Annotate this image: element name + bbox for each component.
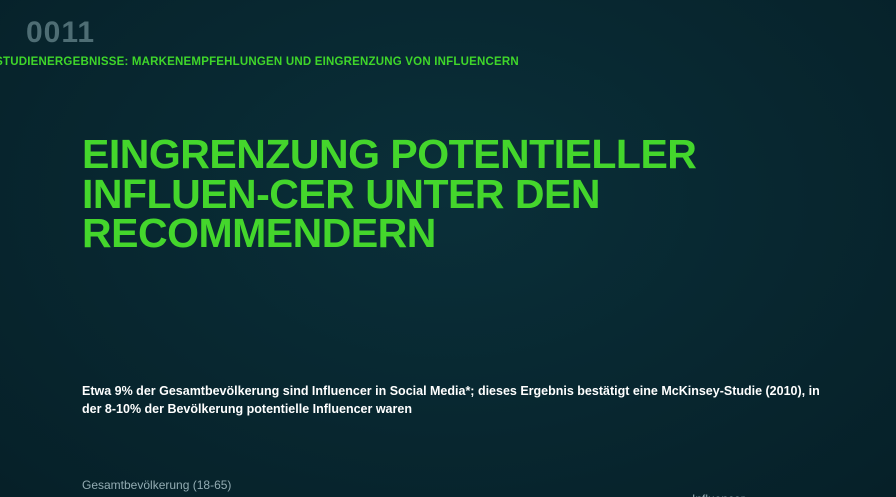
slide-root: 0011 #02 STUDIENERGEBNISSE: MARKENEMPFEH… [0, 0, 896, 497]
slide-kicker: #02 STUDIENERGEBNISSE: MARKENEMPFEHLUNGE… [0, 56, 868, 68]
page-title: EINGRENZUNG POTENTIELLER INFLUEN-CER UNT… [82, 135, 872, 253]
page-number: 0011 [26, 18, 896, 48]
funnel-chart: 51 MIO.15,9 MIO.11,12 MIO.6,28 MIO.4,6 M… [0, 292, 896, 497]
